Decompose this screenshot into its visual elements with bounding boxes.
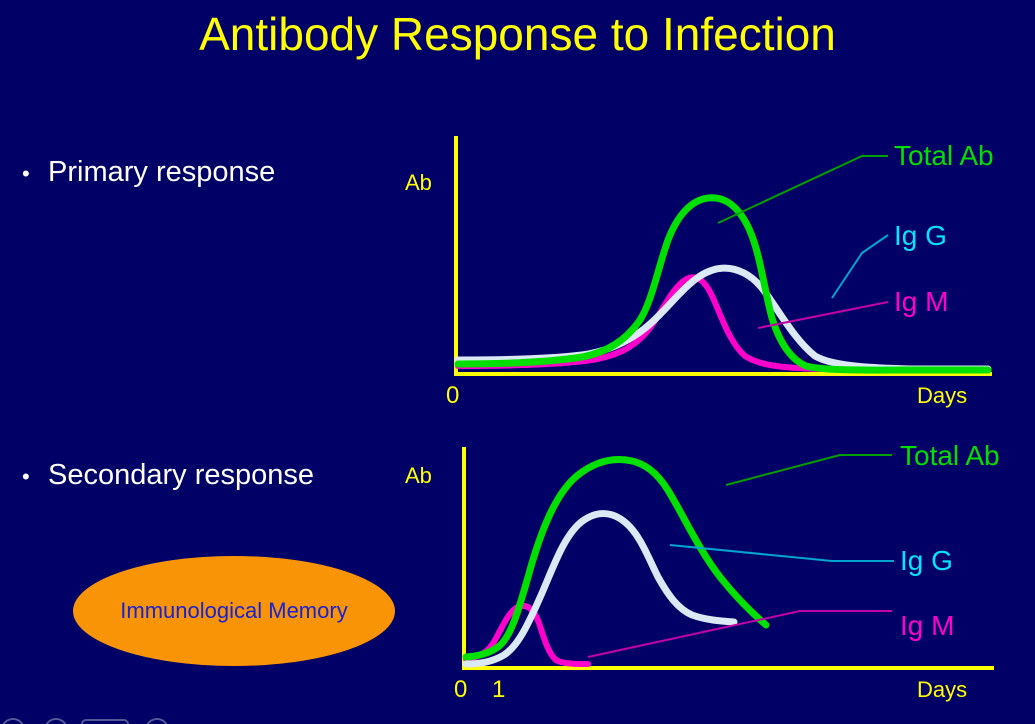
bullet-label-primary-response: Primary response [48, 155, 275, 189]
legend-label-total-ab: Total Ab [894, 140, 994, 172]
chart-secondary-xtick-0: 0 [454, 676, 467, 704]
leader-line-total-ab [726, 455, 892, 485]
callout-immunological-memory: Immunological Memory [73, 556, 395, 666]
chart-primary-y-axis-label: Ab [405, 170, 432, 196]
chart-secondary-y-axis-label: Ab [405, 463, 432, 489]
legend-leader-lines [718, 156, 888, 328]
previous-slide-icon[interactable] [2, 719, 24, 724]
chart-secondary-xtick-1: 1 [492, 676, 505, 704]
bullet-item-secondary-response: • Secondary response [8, 458, 314, 494]
page-title: Antibody Response to Infection [0, 6, 1035, 62]
bullet-marker-icon: • [8, 157, 48, 191]
pen-icon[interactable] [45, 719, 67, 724]
slide-canvas: Antibody Response to Infection • Primary… [0, 0, 1035, 724]
callout-label: Immunological Memory [120, 598, 347, 624]
chart-primary-xtick-0: 0 [446, 382, 459, 410]
legend-label-igm: Ig M [894, 286, 948, 318]
legend-leader-lines [588, 455, 894, 657]
slideshow-nav-toolbar[interactable] [0, 708, 220, 724]
chart-primary-x-axis-label: Days [917, 383, 967, 409]
bullet-label-secondary-response: Secondary response [48, 458, 314, 492]
chart-secondary-response: Ab 0 1 Days Total Ab Ig G Ig M [400, 435, 1035, 724]
bullet-item-primary-response: • Primary response [8, 155, 275, 191]
legend-label-igg: Ig G [894, 220, 947, 252]
next-slide-icon[interactable] [146, 719, 168, 724]
leader-line-igg [832, 235, 888, 298]
slide-menu-icon[interactable] [82, 720, 128, 724]
legend-label-igg: Ig G [900, 545, 953, 577]
chart-axes [454, 136, 992, 376]
legend-label-total-ab: Total Ab [900, 440, 1000, 472]
bullet-marker-icon: • [8, 460, 48, 494]
chart-primary-response: Ab 0 Days Total Ab Ig G Ig M [400, 128, 1035, 413]
chart-secondary-x-axis-label: Days [917, 677, 967, 703]
leader-line-igm [588, 611, 892, 657]
legend-label-igm: Ig M [900, 610, 954, 642]
